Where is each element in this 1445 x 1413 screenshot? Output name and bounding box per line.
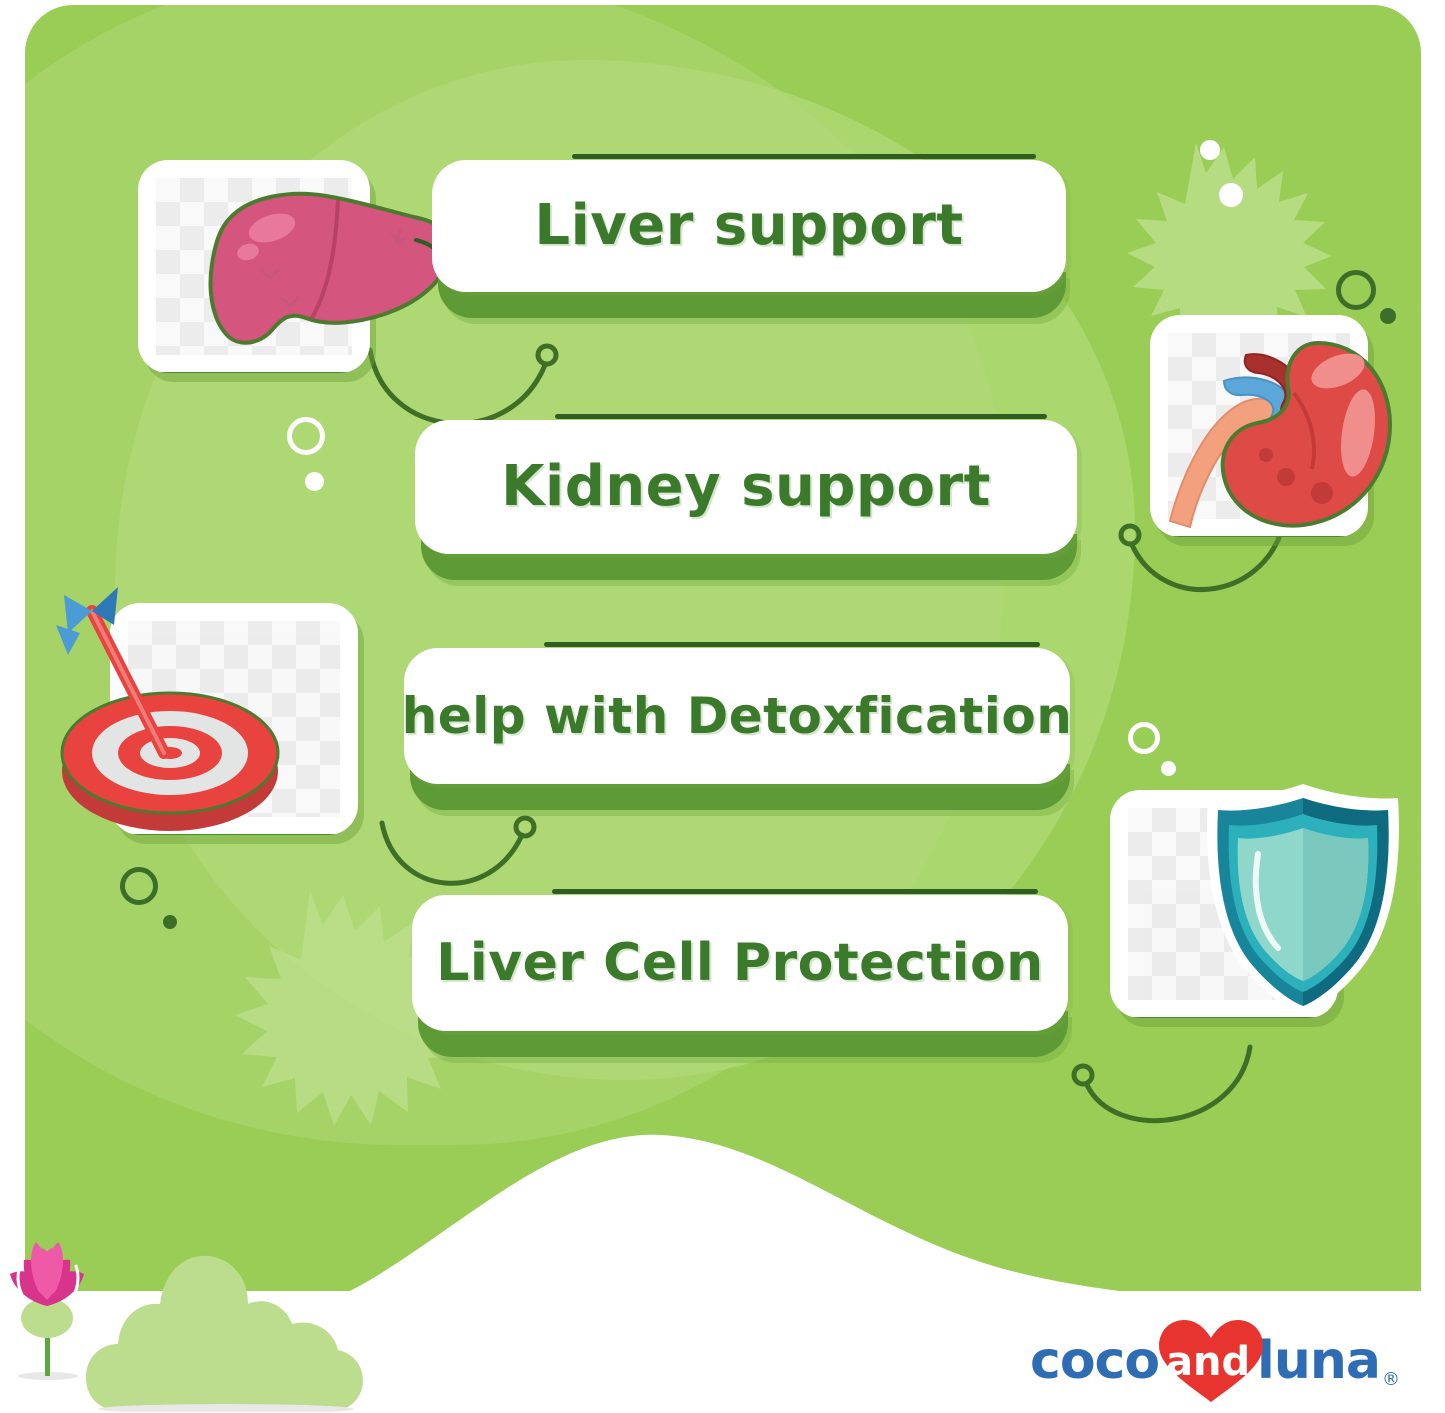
- benefit-label: Kidney support: [501, 459, 991, 515]
- white-dot-bubble-4: [1219, 183, 1243, 207]
- liver-icon: [186, 178, 466, 368]
- logo-word-coco: coco: [1030, 1335, 1159, 1387]
- benefit-label: help with Detoxfication: [402, 691, 1073, 741]
- banner-sketch-line: [544, 642, 1040, 647]
- dark-ring-bubble: [120, 867, 158, 905]
- benefit-label: Liver Cell Protection: [436, 937, 1043, 989]
- registered-trademark-mark: ®: [1382, 1369, 1400, 1390]
- kidney-icon-tile: [1150, 315, 1400, 555]
- liver-icon-tile: [138, 160, 388, 395]
- shield-icon: [1198, 782, 1408, 1022]
- benefit-banner-liver-cell-protection[interactable]: Liver Cell Protection: [412, 895, 1068, 1057]
- banner-card: help with Detoxfication: [404, 648, 1070, 784]
- heart-icon: and: [1153, 1318, 1263, 1404]
- benefit-label: Liver support: [534, 198, 963, 254]
- white-dot-bubble: [305, 472, 324, 491]
- target-icon-tile: [100, 595, 370, 845]
- target-icon: [52, 575, 332, 845]
- benefit-banner-kidney-support[interactable]: Kidney support: [415, 420, 1077, 580]
- curved-thread-squiggle-4: [1045, 1025, 1285, 1145]
- dark-dot-bubble: [163, 915, 177, 929]
- shield-icon-tile: [1110, 790, 1400, 1040]
- banner-sketch-line: [555, 414, 1047, 419]
- banner-sketch-line: [552, 889, 1038, 894]
- banner-card: Kidney support: [415, 420, 1077, 554]
- white-ring-bubble: [287, 417, 325, 455]
- kidney-icon: [1162, 321, 1407, 546]
- white-ring-bubble-2: [1128, 722, 1160, 754]
- infographic-canvas: Liver support Kidney support help with D…: [0, 0, 1445, 1413]
- banner-card: Liver support: [432, 160, 1066, 292]
- dark-ring-bubble-2: [1336, 270, 1376, 310]
- lotus-flower: [0, 1198, 122, 1388]
- banner-sketch-line: [572, 154, 1036, 159]
- logo-word-and: and: [1166, 1342, 1250, 1382]
- tile-sketch-line-bottom: [154, 372, 354, 373]
- benefit-banner-detoxification[interactable]: help with Detoxfication: [404, 648, 1070, 810]
- white-dot-bubble-3: [1200, 140, 1220, 160]
- banner-card: Liver Cell Protection: [412, 895, 1068, 1031]
- white-dot-bubble-2: [1161, 761, 1176, 776]
- logo-word-luna: luna: [1257, 1335, 1380, 1387]
- brand-logo[interactable]: coco and luna ®: [1030, 1318, 1400, 1404]
- benefit-banner-liver-support[interactable]: Liver support: [432, 160, 1066, 318]
